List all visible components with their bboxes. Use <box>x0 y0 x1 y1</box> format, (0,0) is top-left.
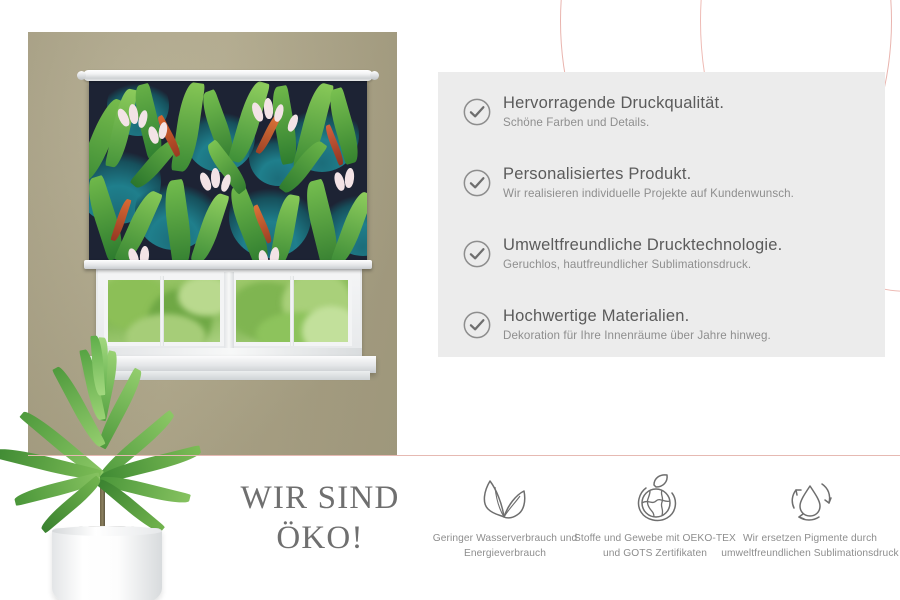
window-mullion-1 <box>160 276 164 346</box>
water-drop-recycle-icon <box>720 470 900 528</box>
window-frame <box>96 268 362 362</box>
rail-cap-right <box>370 71 379 80</box>
feature-title: Hochwertige Materialien. <box>503 307 771 326</box>
feature-title: Umweltfreundliche Drucktechnologie. <box>503 236 782 255</box>
feature-title: Personalisiertes Produkt. <box>503 165 794 184</box>
feature-subtitle: Geruchlos, hautfreundlicher Sublimations… <box>503 257 782 272</box>
rail-cap-left <box>77 71 86 80</box>
feature-subtitle: Dekoration für Ihre Innenräume über Jahr… <box>503 328 771 343</box>
eco-item: Wir ersetzen Pigmente durch umweltfreund… <box>720 470 900 562</box>
feature-subtitle: Schöne Farben und Details. <box>503 115 724 130</box>
plant-pot-rim <box>52 526 162 536</box>
globe-leaf-icon <box>565 470 745 528</box>
blind-fabric-tropical-print <box>89 80 367 262</box>
check-circle-icon <box>462 310 492 340</box>
blind-roller-rail <box>83 70 373 81</box>
window-mullion-2 <box>290 276 294 346</box>
eco-item: Stoffe und Gewebe mit OEKO-TEX und GOTS … <box>565 470 745 562</box>
eco-heading-line2: ÖKO! <box>212 518 428 558</box>
feature-item: Hochwertige Materialien. Dekoration für … <box>462 307 771 343</box>
feature-item: Personalisiertes Produkt. Wir realisiere… <box>462 165 794 201</box>
window-pane-left <box>104 276 224 346</box>
marketing-banner: Hervorragende Druckqualität. Schöne Farb… <box>0 0 900 600</box>
eco-heading: WIR SIND ÖKO! <box>212 478 428 559</box>
feature-item: Hervorragende Druckqualität. Schöne Farb… <box>462 94 724 130</box>
section-divider <box>28 455 900 456</box>
eco-heading-line1: WIR SIND <box>212 478 428 518</box>
window-mullion-center <box>224 272 234 350</box>
check-circle-icon <box>462 168 492 198</box>
blind-bottom-bar <box>84 260 372 269</box>
feature-title: Hervorragende Druckqualität. <box>503 94 724 113</box>
feature-subtitle: Wir realisieren individuelle Projekte au… <box>503 186 794 201</box>
feature-item: Umweltfreundliche Drucktechnologie. Geru… <box>462 236 782 272</box>
check-circle-icon <box>462 97 492 127</box>
eco-caption: Stoffe und Gewebe mit OEKO-TEX und GOTS … <box>565 532 745 562</box>
features-panel: Hervorragende Druckqualität. Schöne Farb… <box>438 72 885 357</box>
check-circle-icon <box>462 239 492 269</box>
eco-caption: Wir ersetzen Pigmente durch umweltfreund… <box>720 532 900 562</box>
plant-pot <box>52 528 162 600</box>
roller-blind <box>89 70 367 275</box>
